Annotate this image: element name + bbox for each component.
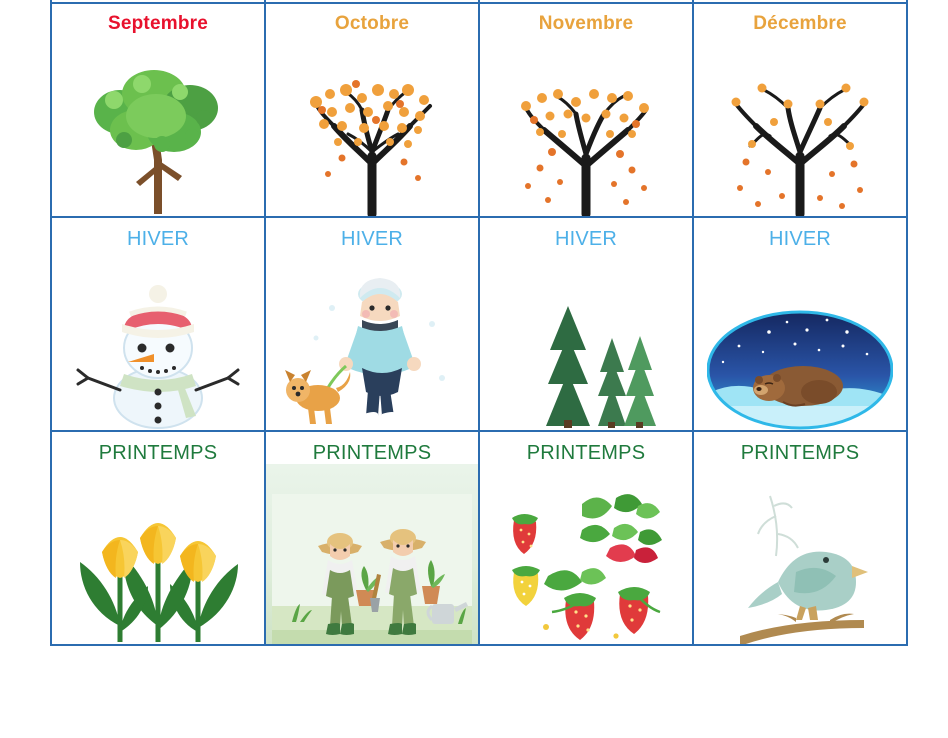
worksheet-page: Septembre [0,0,948,738]
grid-cell-octobre: Octobre [265,3,479,217]
fir-trees-illustration [480,250,692,430]
grid-cell-printemps-2: PRINTEMPS [265,431,479,645]
season-label-printemps-1: PRINTEMPS [99,442,217,464]
season-label-hiver-3: HIVER [555,228,617,250]
grid-cell-printemps-4: PRINTEMPS [693,431,907,645]
month-label-octobre: Octobre [335,14,409,35]
grid-cell-hiver-4: HIVER [693,217,907,431]
season-label-hiver-4: HIVER [769,228,831,250]
grid-cell-hiver-3: HIVER [479,217,693,431]
green-leafy-tree-illustration [52,35,264,216]
yellow-tulips-illustration [52,464,264,644]
grid-cell-novembre: Novembre [479,3,693,217]
season-label-printemps-3: PRINTEMPS [527,442,645,464]
strawberries-and-leaves-illustration [480,464,692,644]
grid-cell-printemps-1: PRINTEMPS [51,431,265,645]
season-label-printemps-2: PRINTEMPS [313,442,431,464]
season-label-printemps-4: PRINTEMPS [741,442,859,464]
grid-cell-hiver-1: HIVER [51,217,265,431]
table-row: PRINTEMPS [51,431,907,645]
grid-cell-decembre: Décembre [693,3,907,217]
grid-cell-printemps-3: PRINTEMPS [479,431,693,645]
month-label-septembre: Septembre [108,14,208,35]
two-gardeners-illustration [266,464,478,644]
seasons-grid: Septembre [50,0,908,646]
girl-winter-coat-with-dog-illustration [266,250,478,430]
month-label-decembre: Décembre [753,14,846,35]
autumn-tree-orange-leaves-illustration [266,35,478,216]
season-label-hiver-1: HIVER [127,228,189,250]
hibernating-bear-night-illustration [694,250,906,430]
autumn-tree-falling-leaves-illustration [480,35,692,216]
table-row: Septembre [51,3,907,217]
season-label-hiver-2: HIVER [341,228,403,250]
table-row: HIVER [51,217,907,431]
grid-cell-septembre: Septembre [51,3,265,217]
bare-tree-few-leaves-illustration [694,35,906,216]
snowman-illustration [52,250,264,430]
month-label-novembre: Novembre [539,14,634,35]
grid-cell-hiver-2: HIVER [265,217,479,431]
bird-on-branch-illustration [694,464,906,644]
